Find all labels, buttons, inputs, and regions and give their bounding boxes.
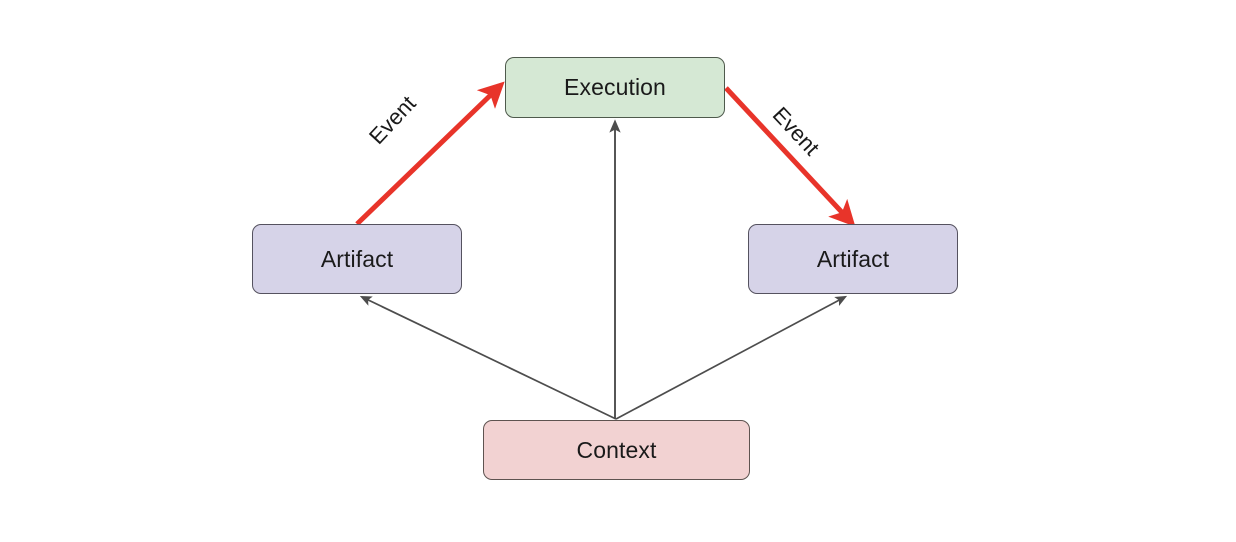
node-artifact-left[interactable]: Artifact <box>252 224 462 294</box>
node-artifact-right-label: Artifact <box>817 248 889 271</box>
edge-context-to-artifact-right <box>616 297 845 419</box>
node-artifact-right[interactable]: Artifact <box>748 224 958 294</box>
node-execution-label: Execution <box>564 76 666 99</box>
edge-context-to-artifact-left <box>362 297 616 419</box>
node-artifact-left-label: Artifact <box>321 248 393 271</box>
node-context-label: Context <box>577 439 657 462</box>
node-context[interactable]: Context <box>483 420 750 480</box>
diagram-canvas: Execution Artifact Artifact Context Even… <box>0 0 1236 542</box>
edge-artifact-left-to-execution <box>357 86 500 224</box>
node-execution[interactable]: Execution <box>505 57 725 118</box>
